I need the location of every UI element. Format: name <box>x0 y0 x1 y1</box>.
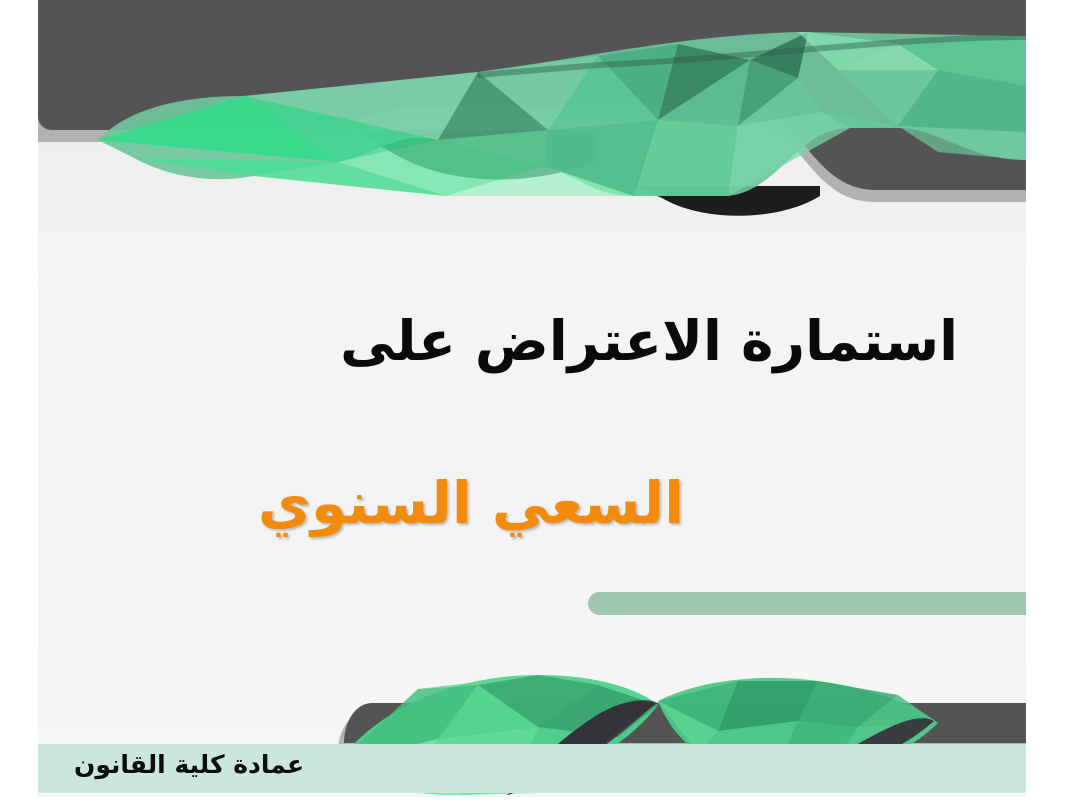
top-decoration <box>38 0 1026 250</box>
slide: عمادة كلية القانون استمارة الاعتراض على … <box>38 0 1026 797</box>
page-subtitle: السعي السنوي <box>104 470 684 537</box>
footer-label: عمادة كلية القانون <box>74 750 304 779</box>
slide-canvas: عمادة كلية القانون استمارة الاعتراض على … <box>0 0 1080 810</box>
mint-pill-bar <box>588 592 1026 615</box>
page-title: استمارة الاعتراض على <box>38 310 958 373</box>
